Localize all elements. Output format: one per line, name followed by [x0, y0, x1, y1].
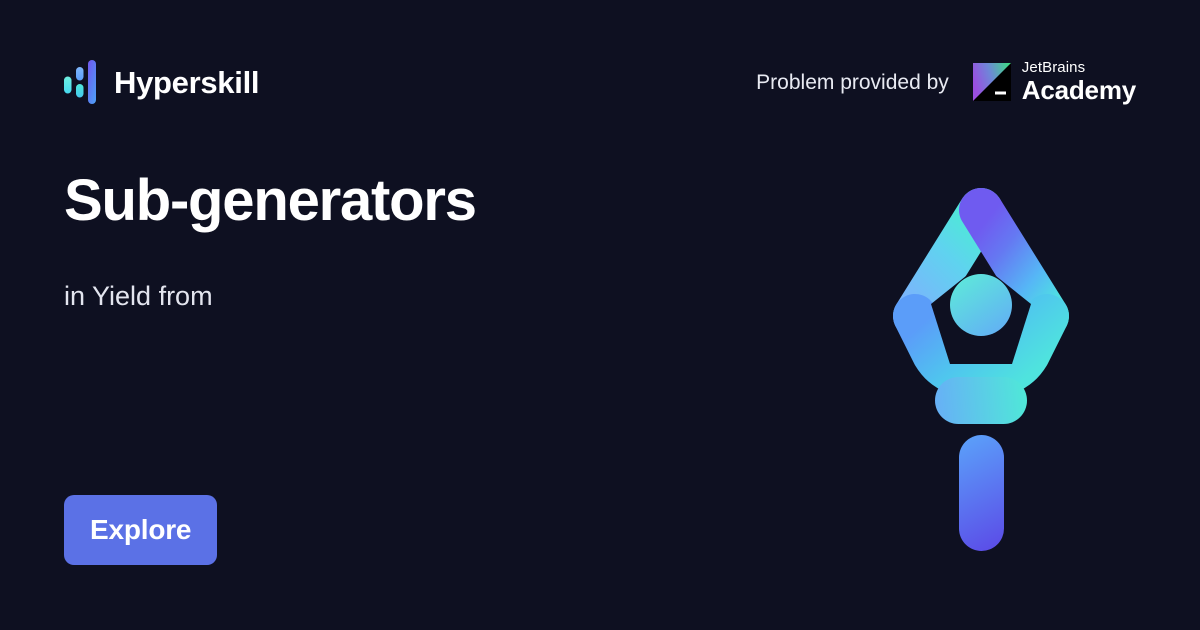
vertical-pill — [959, 435, 1004, 551]
jetbrains-square-icon — [973, 63, 1011, 101]
center-circle — [950, 274, 1012, 336]
provider-lockup: Problem provided by — [756, 60, 1136, 104]
jetbrains-academy-logo[interactable]: JetBrains Academy — [973, 60, 1136, 104]
hyperskill-brand[interactable]: Hyperskill — [64, 58, 259, 106]
social-card: Hyperskill Problem provided by — [0, 0, 1200, 630]
hyperskill-bars-icon — [64, 58, 98, 106]
header: Hyperskill Problem provided by — [0, 0, 1200, 170]
hyperskill-logo-mark-icon — [890, 178, 1072, 560]
hyperskill-wordmark: Hyperskill — [114, 67, 259, 98]
main-content: Sub-generators in Yield from Explore — [64, 170, 844, 590]
page-title: Sub-generators — [64, 170, 844, 233]
jetbrains-academy-text: JetBrains Academy — [1022, 60, 1136, 104]
nib-group — [915, 210, 1047, 374]
page-subtitle: in Yield from — [64, 282, 213, 312]
horizontal-pill — [935, 377, 1027, 424]
jetbrains-label: JetBrains — [1022, 60, 1136, 76]
explore-button[interactable]: Explore — [64, 495, 217, 565]
academy-label: Academy — [1022, 77, 1136, 104]
provided-by-label: Problem provided by — [756, 72, 949, 93]
